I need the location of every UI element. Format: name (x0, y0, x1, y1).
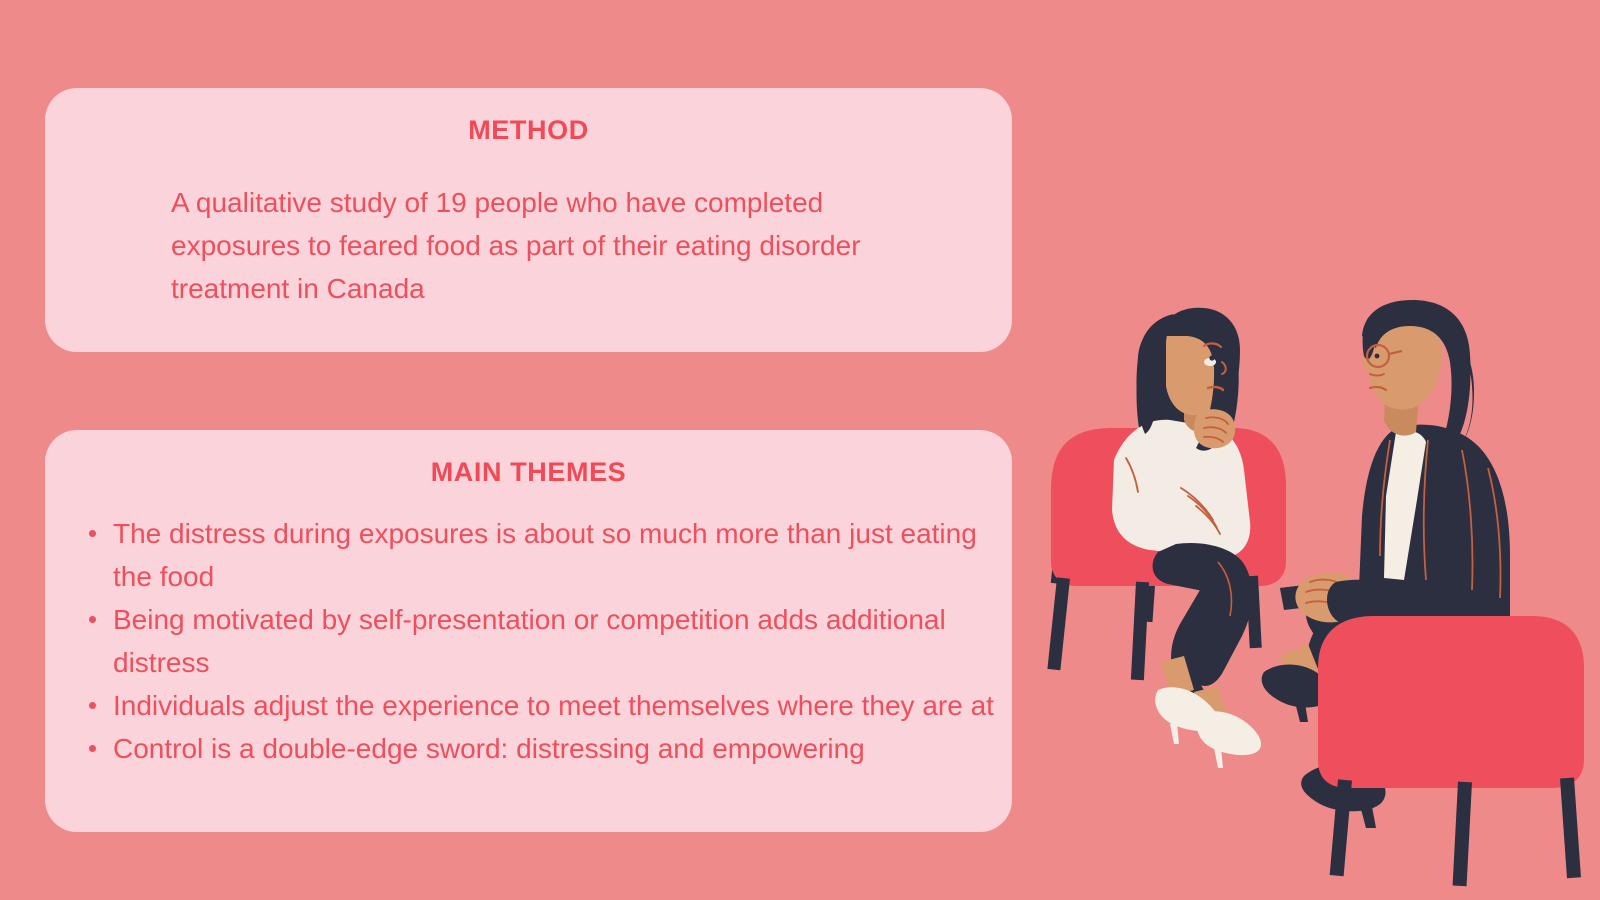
bullet-dot-icon (89, 702, 96, 709)
bullet-dot-icon (89, 530, 96, 537)
main-theme-label: Being motivated by self-presentation or … (113, 604, 946, 678)
main-theme-item: Being motivated by self-presentation or … (73, 598, 1003, 684)
main-theme-label: The distress during exposures is about s… (113, 518, 977, 592)
therapy-session-illustration (1018, 300, 1600, 900)
main-theme-label: Control is a double-edge sword: distress… (113, 733, 865, 764)
main-theme-item: Control is a double-edge sword: distress… (73, 727, 1003, 770)
main-themes-list: The distress during exposures is about s… (73, 512, 1003, 770)
bullet-dot-icon (89, 616, 96, 623)
method-card-title: METHOD (45, 88, 1012, 146)
right-armchair (1318, 616, 1584, 886)
main-themes-card: MAIN THEMES The distress during exposure… (45, 430, 1012, 832)
main-themes-card-title: MAIN THEMES (45, 430, 1012, 488)
main-theme-item: The distress during exposures is about s… (73, 512, 1003, 598)
main-theme-item: Individuals adjust the experience to mee… (73, 684, 1003, 727)
bullet-dot-icon (89, 745, 96, 752)
client-figure (1112, 308, 1261, 768)
method-card-body: A qualitative study of 19 people who hav… (171, 181, 931, 310)
main-theme-label: Individuals adjust the experience to mee… (113, 690, 994, 721)
infographic-slide: METHOD A qualitative study of 19 people … (0, 0, 1600, 900)
method-card: METHOD A qualitative study of 19 people … (45, 88, 1012, 352)
